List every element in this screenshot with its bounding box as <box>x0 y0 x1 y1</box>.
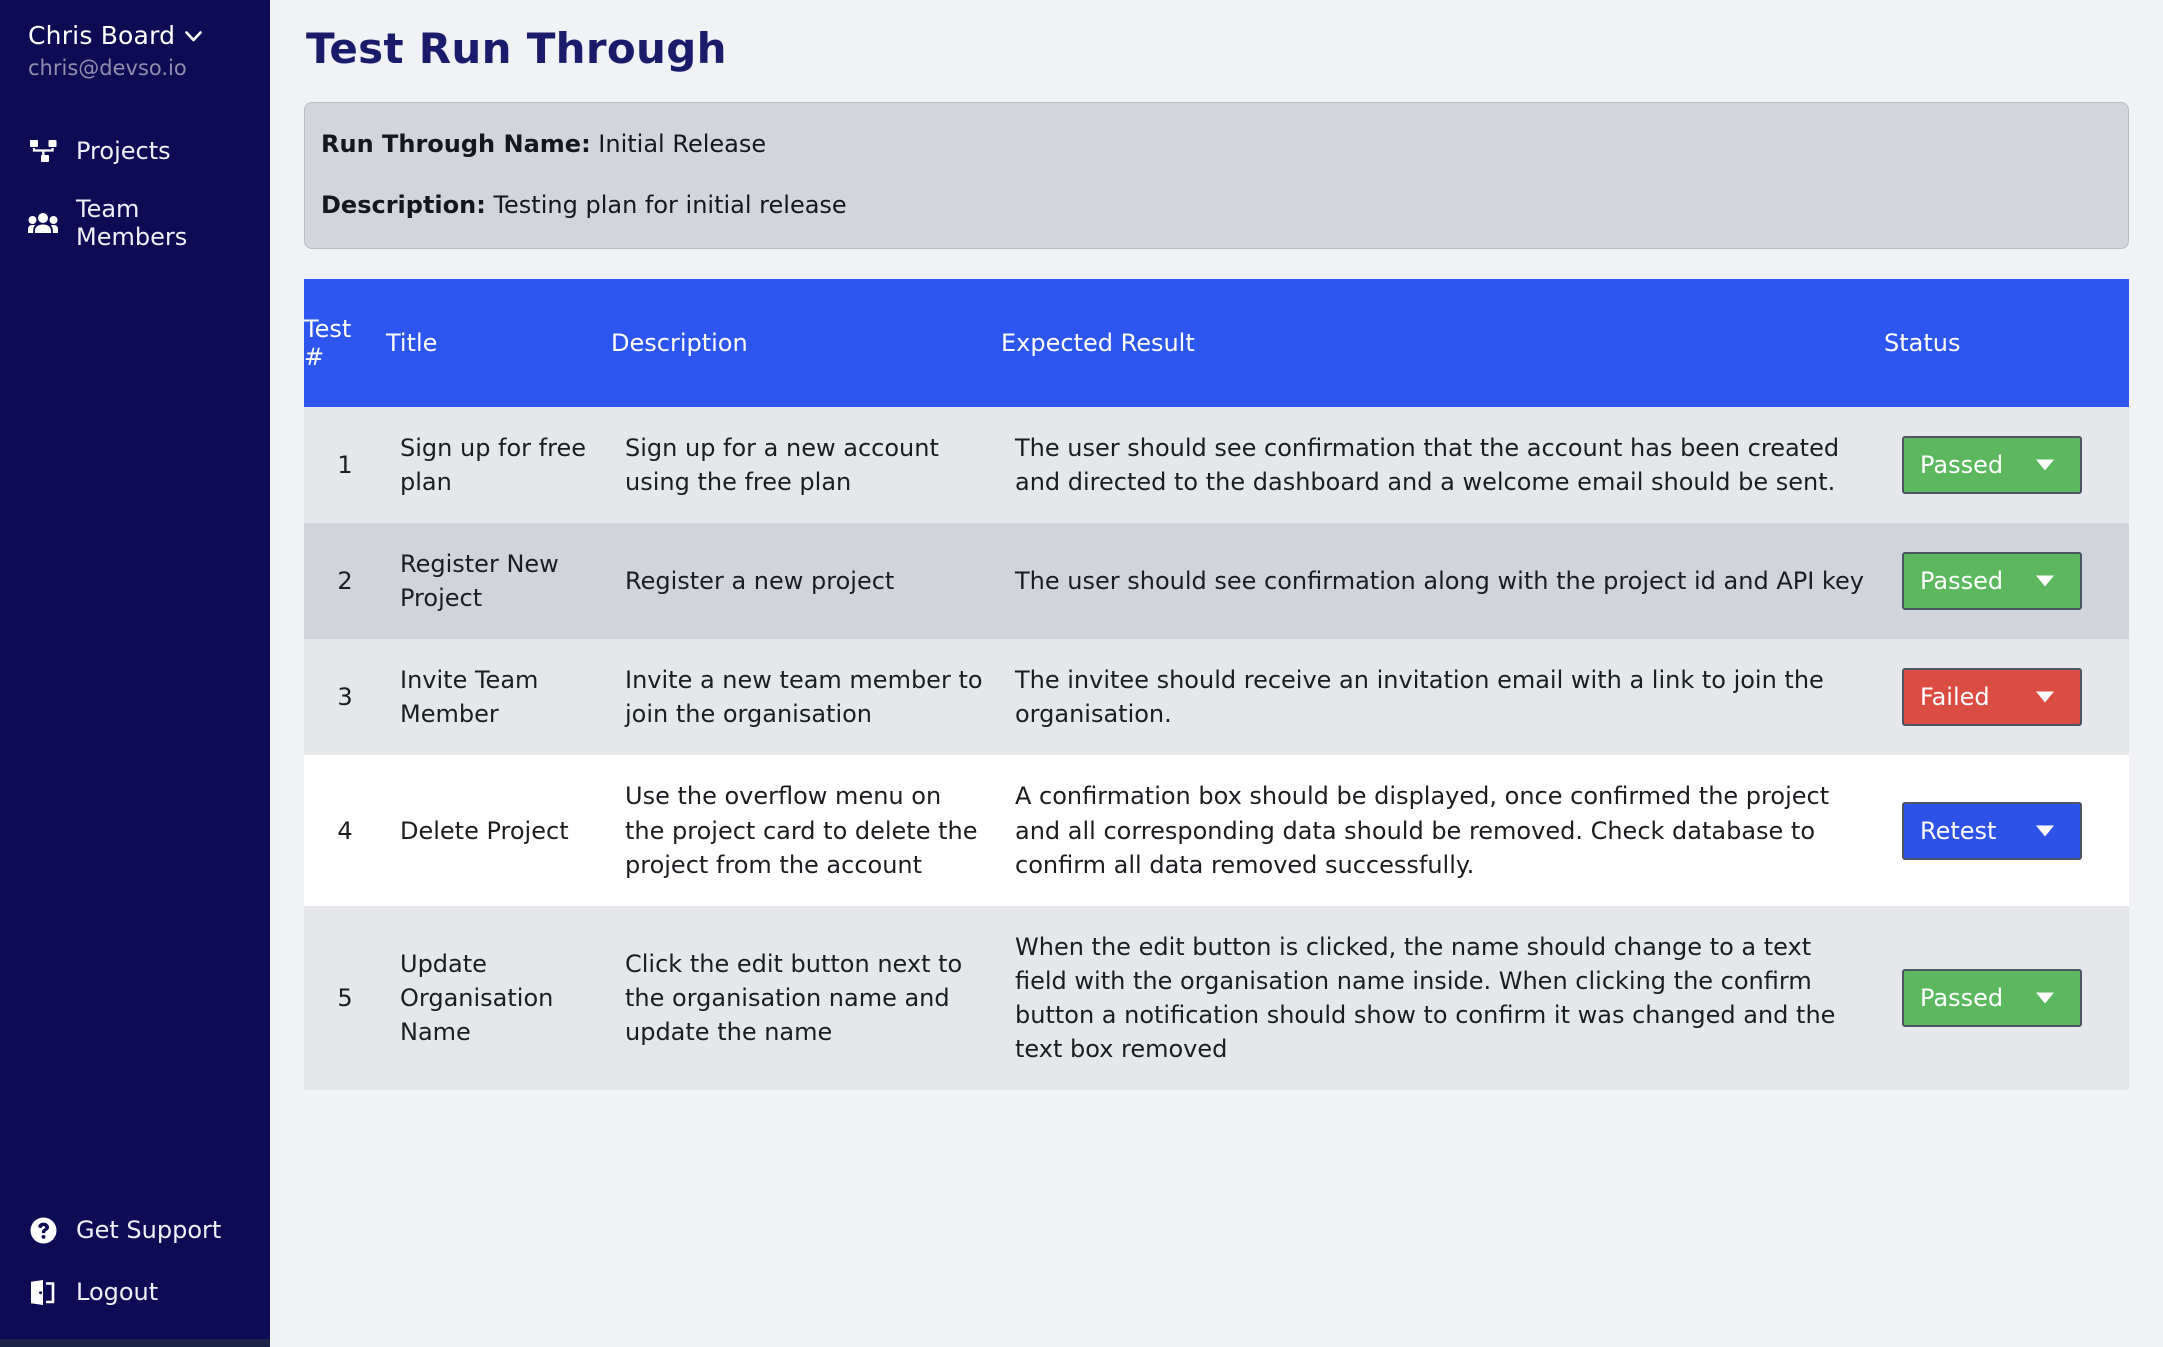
app-root: Chris Board chris@devso.io <box>0 0 2163 1347</box>
status-dropdown-label: Failed <box>1920 680 1990 714</box>
cell-test-number: 2 <box>304 523 386 639</box>
cell-description: Register a new project <box>611 523 1001 639</box>
status-dropdown[interactable]: Passed <box>1902 969 2082 1027</box>
cell-test-number: 4 <box>304 755 386 905</box>
cell-description: Sign up for a new account using the free… <box>611 407 1001 523</box>
cell-status: Passed <box>1884 407 2129 523</box>
column-header-status: Status <box>1884 279 2129 407</box>
logout-door-icon <box>28 1279 58 1305</box>
cell-description: Use the overflow menu on the project car… <box>611 755 1001 905</box>
sidebar-item-team-members[interactable]: Team Members <box>0 186 270 260</box>
run-through-info-box: Run Through Name: Initial Release Descri… <box>304 102 2129 249</box>
question-circle-icon <box>28 1217 58 1243</box>
run-through-description-line: Description: Testing plan for initial re… <box>321 191 2112 220</box>
account-name-label: Chris Board <box>28 22 175 50</box>
chevron-down-icon <box>2036 460 2054 471</box>
cell-title: Update Organisation Name <box>386 906 611 1090</box>
cell-title: Delete Project <box>386 755 611 905</box>
column-header-test-number-line2: # <box>304 343 386 371</box>
sidebar-item-logout[interactable]: Logout <box>0 1269 270 1315</box>
column-header-expected: Expected Result <box>1001 279 1884 407</box>
chevron-down-icon <box>2036 992 2054 1003</box>
account-block: Chris Board chris@devso.io <box>0 14 270 80</box>
cell-status: Passed <box>1884 906 2129 1090</box>
cell-title: Register New Project <box>386 523 611 639</box>
cell-expected: When the edit button is clicked, the nam… <box>1001 906 1884 1090</box>
cell-description: Invite a new team member to join the org… <box>611 639 1001 755</box>
cell-expected: The user should see confirmation that th… <box>1001 407 1884 523</box>
chevron-down-icon <box>2036 692 2054 703</box>
run-through-name-label: Run Through Name: <box>321 130 591 158</box>
column-header-test-number: Test # <box>304 279 386 407</box>
column-header-description: Description <box>611 279 1001 407</box>
table-row: 1 Sign up for free plan Sign up for a ne… <box>304 407 2129 523</box>
sidebar-item-logout-label: Logout <box>76 1278 158 1306</box>
tests-table-header-row: Test # Title Description Expected Result… <box>304 279 2129 407</box>
cell-test-number: 1 <box>304 407 386 523</box>
column-header-test-number-line1: Test <box>304 315 386 343</box>
run-through-description-label: Description: <box>321 191 486 219</box>
tests-table: Test # Title Description Expected Result… <box>304 279 2129 1090</box>
sidebar-item-get-support[interactable]: Get Support <box>0 1207 270 1253</box>
status-dropdown-label: Passed <box>1920 448 2003 482</box>
cell-status: Retest <box>1884 755 2129 905</box>
cell-title: Invite Team Member <box>386 639 611 755</box>
sitemap-icon <box>28 138 58 164</box>
account-email-label: chris@devso.io <box>28 57 242 80</box>
table-row: 5 Update Organisation Name Click the edi… <box>304 906 2129 1090</box>
chevron-down-icon <box>185 28 202 47</box>
tests-table-body: 1 Sign up for free plan Sign up for a ne… <box>304 407 2129 1090</box>
cell-test-number: 3 <box>304 639 386 755</box>
table-row: 4 Delete Project Use the overflow menu o… <box>304 755 2129 905</box>
status-dropdown-label: Passed <box>1920 981 2003 1015</box>
run-through-description-value: Testing plan for initial release <box>486 191 847 219</box>
status-dropdown[interactable]: Retest <box>1902 802 2082 860</box>
tests-table-wrapper: Test # Title Description Expected Result… <box>304 279 2129 1090</box>
cell-status: Failed <box>1884 639 2129 755</box>
cell-expected: The invitee should receive an invitation… <box>1001 639 1884 755</box>
run-through-name-line: Run Through Name: Initial Release <box>321 130 2112 159</box>
sidebar: Chris Board chris@devso.io <box>0 0 270 1347</box>
chevron-down-icon <box>2036 576 2054 587</box>
sidebar-item-projects-label: Projects <box>76 137 171 165</box>
tests-table-head: Test # Title Description Expected Result… <box>304 279 2129 407</box>
status-dropdown-label: Passed <box>1920 564 2003 598</box>
sidebar-item-projects[interactable]: Projects <box>0 128 270 174</box>
account-menu-trigger[interactable]: Chris Board <box>28 22 242 50</box>
cell-test-number: 5 <box>304 906 386 1090</box>
sidebar-nav-secondary: Get Support Logout <box>0 1207 270 1315</box>
cell-expected: The user should see confirmation along w… <box>1001 523 1884 639</box>
main-content: Test Run Through Run Through Name: Initi… <box>270 0 2163 1347</box>
cell-expected: A confirmation box should be displayed, … <box>1001 755 1884 905</box>
table-row: 3 Invite Team Member Invite a new team m… <box>304 639 2129 755</box>
users-icon <box>28 210 58 236</box>
column-header-title: Title <box>386 279 611 407</box>
sidebar-item-get-support-label: Get Support <box>76 1216 221 1244</box>
status-dropdown[interactable]: Passed <box>1902 436 2082 494</box>
cell-description: Click the edit button next to the organi… <box>611 906 1001 1090</box>
sidebar-item-team-members-label: Team Members <box>76 195 242 251</box>
table-row: 2 Register New Project Register a new pr… <box>304 523 2129 639</box>
status-dropdown[interactable]: Passed <box>1902 552 2082 610</box>
cell-status: Passed <box>1884 523 2129 639</box>
run-through-name-value: Initial Release <box>591 130 766 158</box>
page-title: Test Run Through <box>306 24 2129 74</box>
chevron-down-icon <box>2036 825 2054 836</box>
sidebar-nav-primary: Projects Team Members <box>0 128 270 260</box>
status-dropdown[interactable]: Failed <box>1902 668 2082 726</box>
status-dropdown-label: Retest <box>1920 814 1996 848</box>
cell-title: Sign up for free plan <box>386 407 611 523</box>
